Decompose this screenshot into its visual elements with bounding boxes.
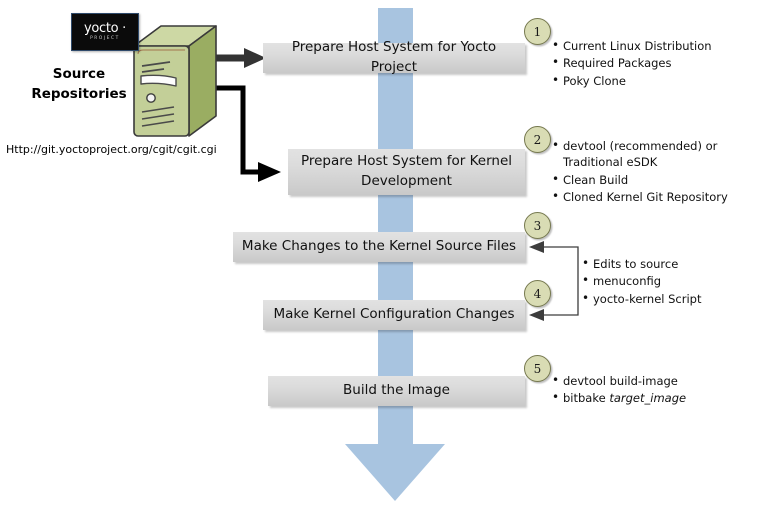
note-item: Clean Build xyxy=(563,172,762,188)
step-5-notes: devtool build-image bitbake target_image xyxy=(550,373,762,408)
step-badge-5: 5 xyxy=(524,355,551,382)
step-badge-3: 3 xyxy=(524,212,551,239)
note-text: devtool build-image xyxy=(563,374,678,388)
note-item: devtool (recommended) or Traditional eSD… xyxy=(563,138,762,171)
note-item: yocto-kernel Script xyxy=(593,291,760,307)
step-badge-1: 1 xyxy=(524,18,551,45)
note-item: bitbake target_image xyxy=(563,390,762,406)
step-1-notes: Current Linux Distribution Required Pack… xyxy=(550,38,762,90)
note-item: Current Linux Distribution xyxy=(563,38,762,54)
step-badge-2: 2 xyxy=(524,126,551,153)
note-text: bitbake xyxy=(563,391,609,405)
step-2-notes: devtool (recommended) or Traditional eSD… xyxy=(550,138,762,207)
note-item: Edits to source xyxy=(593,256,760,272)
step-badge-4: 4 xyxy=(524,280,551,307)
note-item: menuconfig xyxy=(593,273,760,289)
diagram-canvas: yocto · PROJECT Source Repositories Http… xyxy=(0,0,769,517)
note-item: devtool build-image xyxy=(563,373,762,389)
note-item: Cloned Kernel Git Repository xyxy=(563,189,762,205)
note-item: Poky Clone xyxy=(563,73,762,89)
steps-3-4-notes: Edits to source menuconfig yocto-kernel … xyxy=(580,256,760,308)
note-item: Required Packages xyxy=(563,55,762,71)
note-emphasis: target_image xyxy=(609,391,686,405)
